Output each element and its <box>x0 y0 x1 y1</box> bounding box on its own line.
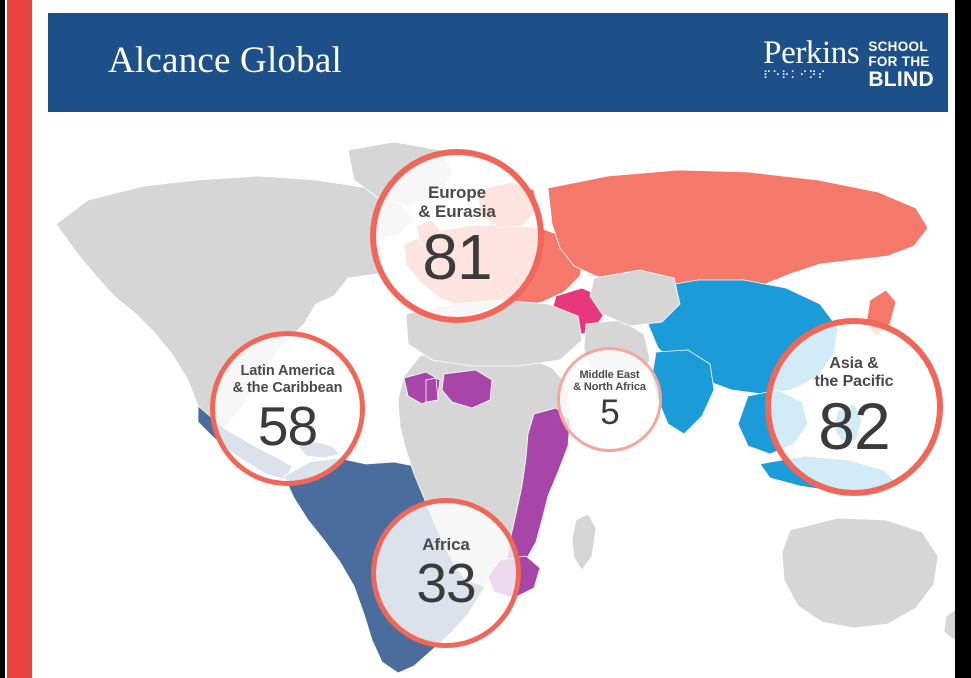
region-bubble-middle-east-label-line2: & North Africa <box>573 381 646 393</box>
region-bubble-africa[interactable]: Africa 33 <box>371 498 521 648</box>
logo-tagline-line3: BLIND <box>868 69 934 91</box>
region-bubble-latin-america-label: Latin America & the Caribbean <box>233 363 343 395</box>
perkins-wordmark: Perkins <box>763 37 859 69</box>
region-bubble-asia-pacific-label: Asia & the Pacific <box>815 355 894 391</box>
region-bubble-asia-pacific-value: 82 <box>818 393 889 459</box>
region-bubble-latin-america[interactable]: Latin America & the Caribbean 58 <box>210 331 365 486</box>
region-australia <box>782 518 938 628</box>
region-central-asia <box>590 270 680 326</box>
left-accent-bar <box>7 0 32 678</box>
region-bubble-latin-america-label-line2: & the Caribbean <box>233 380 343 396</box>
region-bubble-middle-east[interactable]: Middle East & North Africa 5 <box>557 347 662 452</box>
region-bubble-africa-value: 33 <box>416 556 475 611</box>
slide-canvas: Alcance Global Perkins ⠏⠑⠗⠅⠊⠝⠎ SCHOOL FO… <box>0 0 971 678</box>
region-africa-highlight-ghana <box>426 378 438 402</box>
region-bubble-europe-label: Europe & Eurasia <box>418 183 496 221</box>
region-bubble-middle-east-value: 5 <box>600 395 618 430</box>
perkins-logo: Perkins ⠏⠑⠗⠅⠊⠝⠎ SCHOOL FOR THE BLIND <box>763 37 934 91</box>
region-bubble-asia-pacific[interactable]: Asia & the Pacific 82 <box>765 318 943 496</box>
logo-tagline-line1: SCHOOL <box>868 39 934 54</box>
region-bubble-europe[interactable]: Europe & Eurasia 81 <box>370 149 544 323</box>
page-title: Alcance Global <box>108 39 342 82</box>
region-bubble-europe-value: 81 <box>422 225 491 289</box>
region-madagascar <box>572 514 596 570</box>
logo-tagline: SCHOOL FOR THE BLIND <box>868 37 934 91</box>
region-bubble-asia-pacific-label-line2: the Pacific <box>815 373 894 390</box>
perkins-wordmark-block: Perkins ⠏⠑⠗⠅⠊⠝⠎ <box>763 37 859 82</box>
region-bubble-latin-america-label-line1: Latin America <box>240 363 334 379</box>
region-bubble-europe-label-line2: & Eurasia <box>418 202 496 221</box>
logo-tagline-line2: FOR THE <box>868 54 934 69</box>
braille-dots-icon: ⠏⠑⠗⠅⠊⠝⠎ <box>763 71 859 82</box>
region-bubble-europe-label-line1: Europe <box>428 183 486 202</box>
region-bubble-asia-pacific-label-line1: Asia & <box>829 355 878 372</box>
world-map: Europe & Eurasia 81 Latin America & the … <box>48 128 955 673</box>
title-banner: Alcance Global Perkins ⠏⠑⠗⠅⠊⠝⠎ SCHOOL FO… <box>48 13 948 112</box>
region-bubble-latin-america-value: 58 <box>258 399 317 454</box>
region-bubble-middle-east-label: Middle East & North Africa <box>573 369 646 394</box>
region-bubble-middle-east-label-line1: Middle East <box>579 369 639 381</box>
region-new-zealand <box>944 608 955 640</box>
